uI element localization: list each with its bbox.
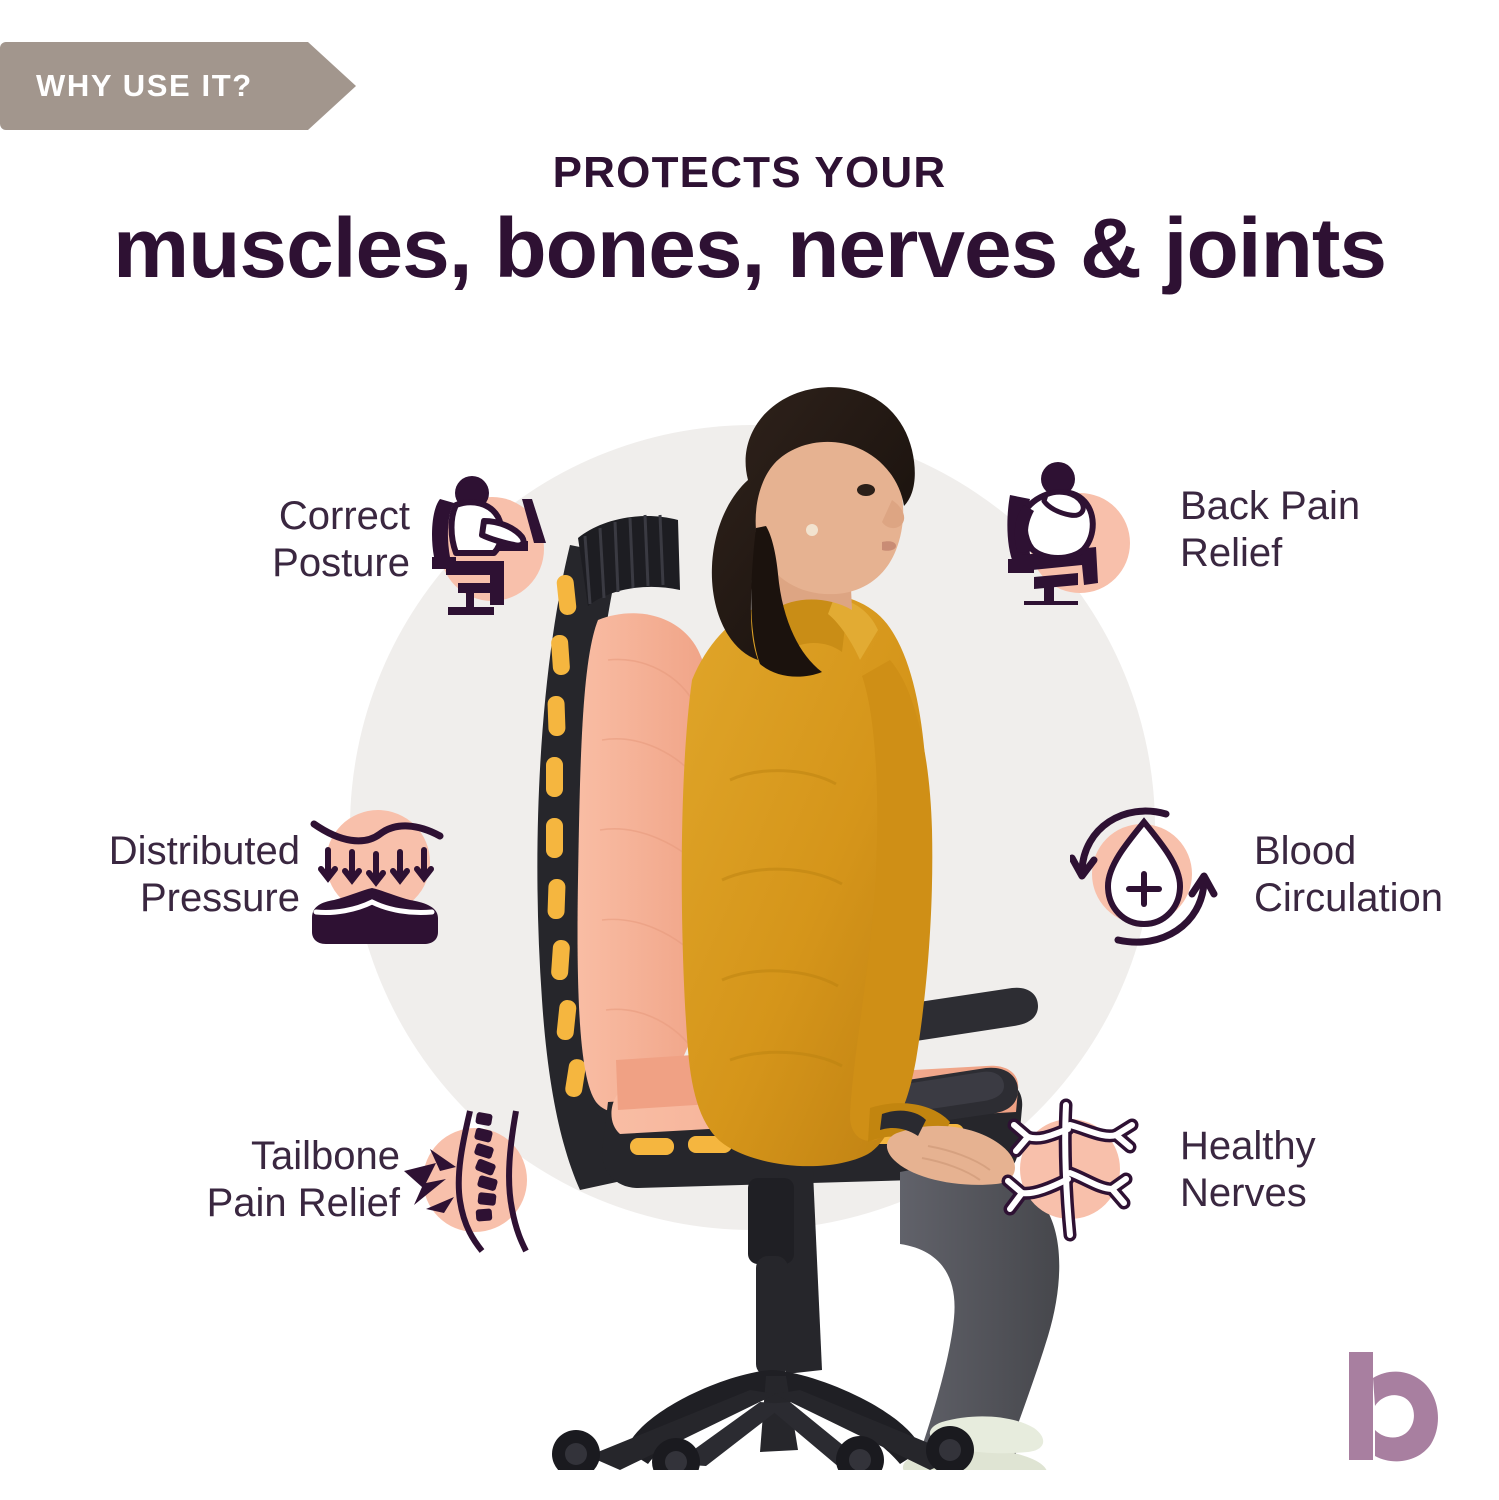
eyebrow-text: PROTECTS YOUR [0,148,1499,198]
why-use-it-ribbon: WHY USE IT? [0,42,356,130]
feature-blood-circulation[interactable]: BloodCirculation [1070,800,1443,950]
seated-back-ache-icon [1000,455,1150,605]
blood-drop-cycle-icon [1070,800,1220,950]
feature-label-healthy-nerves: HealthyNerves [1180,1123,1316,1217]
brand-logo [1343,1352,1463,1470]
cushion-pressure-arrows-icon [300,800,450,950]
feature-distributed-pressure[interactable]: DistributedPressure [10,800,460,950]
feature-correct-posture[interactable]: CorrectPosture [120,465,570,615]
feature-back-pain-relief[interactable]: Back PainRelief [1000,455,1360,605]
person-at-desk-icon [410,465,560,615]
feature-label-tailbone: TailbonePain Relief [110,1133,400,1227]
feature-label-distributed-pressure: DistributedPressure [10,828,300,922]
feature-healthy-nerves[interactable]: HealthyNerves [1000,1095,1316,1245]
nerve-branch-icon [1000,1095,1150,1245]
infographic-canvas: WHY USE IT? PROTECTS YOUR muscles, bones… [0,0,1499,1500]
feature-label-blood-circulation: BloodCirculation [1254,828,1443,922]
feature-tailbone-pain-relief[interactable]: TailbonePain Relief [110,1105,560,1255]
spine-pain-icon [400,1105,550,1255]
feature-label-back-pain: Back PainRelief [1180,483,1360,577]
ribbon-label: WHY USE IT? [0,68,253,104]
feature-label-correct-posture: CorrectPosture [120,493,410,587]
page-title: muscles, bones, nerves & joints [0,200,1499,297]
